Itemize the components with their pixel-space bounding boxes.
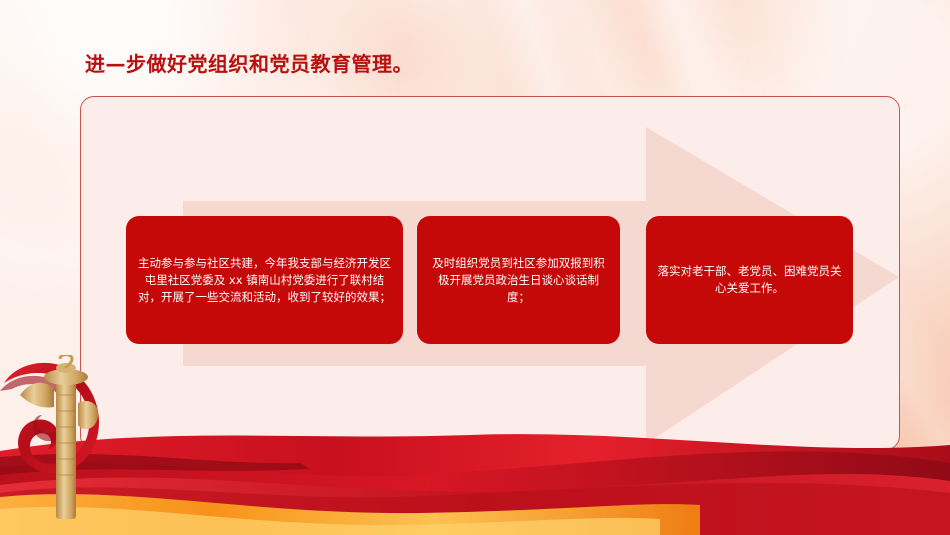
content-card-2[interactable]: 及时组织党员到社区参加双报到积极开展党员政治生日谈心谈话制度； xyxy=(417,216,620,344)
content-card-3[interactable]: 落实对老干部、老党员、困难党员关心关爱工作。 xyxy=(646,216,853,344)
content-card-1-text: 主动参与参与社区共建，今年我支部与经济开发区屯里社区党委及 xx 镇南山村党委进… xyxy=(136,255,393,306)
ribbon-layer-3 xyxy=(0,474,950,535)
ribbon-gold-highlight xyxy=(0,507,660,535)
content-card-3-text: 落实对老干部、老党员、困难党员关心关爱工作。 xyxy=(656,263,843,297)
huabiao-cloud-left xyxy=(20,383,54,408)
huabiao-shaft xyxy=(56,379,76,519)
content-card-1[interactable]: 主动参与参与社区共建，今年我支部与经济开发区屯里社区党委及 xx 镇南山村党委进… xyxy=(126,216,403,344)
ribbon-layer-4 xyxy=(0,483,950,535)
ribbon-gold-wave xyxy=(0,494,700,535)
huabiao-finial xyxy=(60,355,72,368)
huabiao-cap xyxy=(56,363,76,373)
ribbon-fold-dark xyxy=(0,454,310,475)
huabiao-texture xyxy=(58,395,74,475)
ribbon-layer-2 xyxy=(0,451,950,535)
content-panel: 主动参与参与社区共建，今年我支部与经济开发区屯里社区党委及 xx 镇南山村党委进… xyxy=(80,96,900,450)
ribbon-swirl-shade xyxy=(0,376,74,441)
content-card-2-text: 及时组织党员到社区参加双报到积极开展党员政治生日谈心谈话制度； xyxy=(427,255,610,306)
slide-canvas: 进—步做好党组织和党员教育管理。 主动参与参与社区共建，今年我支部与经济开发区屯… xyxy=(0,0,950,535)
card-row: 主动参与参与社区共建，今年我支部与经济开发区屯里社区党委及 xx 镇南山村党委进… xyxy=(81,97,899,449)
page-title: 进—步做好党组织和党员教育管理。 xyxy=(85,48,413,77)
